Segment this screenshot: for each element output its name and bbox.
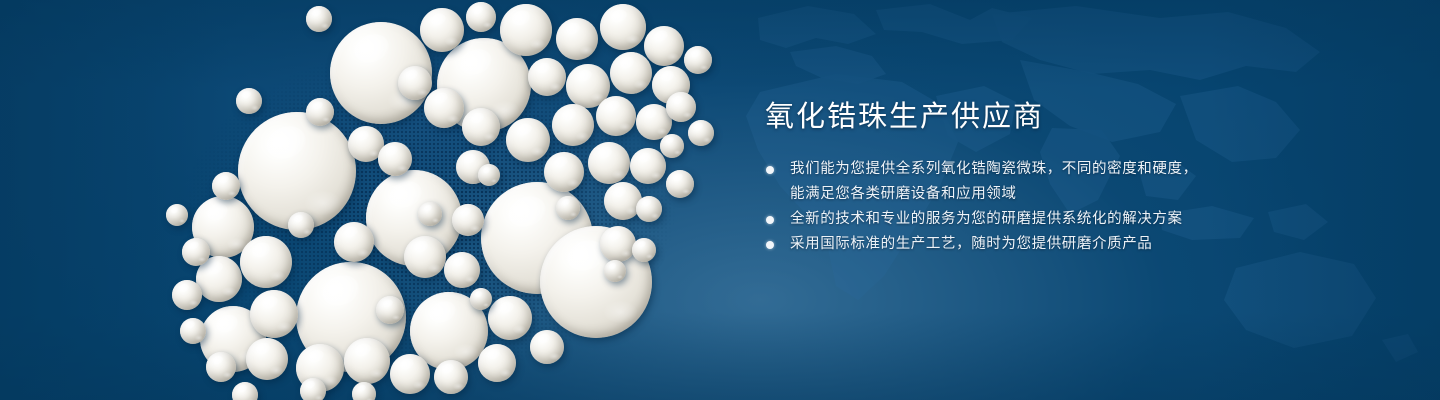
bead [544, 152, 584, 192]
banner-copy: 氧化锆珠生产供应商 我们能为您提供全系列氧化锆陶瓷微珠，不同的密度和硬度， 能满… [762, 100, 1402, 257]
list-item-line: 采用国际标准的生产工艺，随时为您提供研磨介质产品 [790, 232, 1402, 257]
bead [376, 296, 404, 324]
bead [206, 352, 236, 382]
bead [660, 134, 684, 158]
bead [462, 108, 500, 146]
list-item: 我们能为您提供全系列氧化锆陶瓷微珠，不同的密度和硬度， 能满足您各类研磨设备和应… [762, 157, 1402, 207]
bead [246, 338, 288, 380]
bead [478, 344, 516, 382]
bead [180, 318, 206, 344]
list-item: 全新的技术和专业的服务为您的研磨提供系统化的解决方案 [762, 207, 1402, 232]
feature-list: 我们能为您提供全系列氧化锆陶瓷微珠，不同的密度和硬度， 能满足您各类研磨设备和应… [762, 157, 1402, 257]
bead [466, 2, 496, 32]
list-item: 采用国际标准的生产工艺，随时为您提供研磨介质产品 [762, 232, 1402, 257]
bead [172, 280, 202, 310]
bead [300, 378, 326, 400]
bead [644, 26, 684, 66]
bead [600, 226, 636, 262]
bead [444, 252, 480, 288]
bead [240, 236, 292, 288]
bead [182, 238, 210, 266]
bead [424, 88, 464, 128]
bead [236, 88, 262, 114]
bead [588, 142, 630, 184]
bead [166, 204, 188, 226]
bead [528, 58, 566, 96]
bead [636, 196, 662, 222]
bead [306, 98, 334, 126]
bead [556, 196, 580, 220]
bead [452, 204, 484, 236]
bead [418, 202, 442, 226]
bead [610, 52, 652, 94]
bead [420, 8, 464, 52]
list-item-line: 全新的技术和专业的服务为您的研磨提供系统化的解决方案 [790, 207, 1402, 232]
bullet-dot-icon [766, 216, 774, 224]
bead [684, 46, 712, 74]
bullet-dot-icon [766, 166, 774, 174]
bead [288, 212, 314, 238]
bead [600, 4, 646, 50]
bead [488, 296, 532, 340]
bead [632, 238, 656, 262]
bead [500, 4, 552, 56]
zirconia-beads-photo [0, 0, 760, 400]
bead [470, 288, 492, 310]
bead [604, 260, 626, 282]
bead [506, 118, 550, 162]
bead [352, 382, 376, 400]
list-item-line: 能满足您各类研磨设备和应用领域 [790, 182, 1402, 207]
bead [378, 142, 412, 176]
bead [250, 290, 298, 338]
bead [334, 222, 374, 262]
bead [434, 360, 468, 394]
bead [530, 330, 564, 364]
bead [306, 6, 332, 32]
bead [212, 172, 240, 200]
bead [552, 104, 594, 146]
bead [688, 120, 714, 146]
bead [556, 18, 598, 60]
bead [404, 236, 446, 278]
bead [232, 382, 258, 400]
list-item-line: 我们能为您提供全系列氧化锆陶瓷微珠，不同的密度和硬度， [790, 157, 1402, 182]
page-title: 氧化锆珠生产供应商 [765, 100, 1402, 135]
bead [666, 170, 694, 198]
bead [630, 148, 666, 184]
bead [390, 354, 430, 394]
bead [596, 96, 636, 136]
bead [478, 164, 500, 186]
bead [666, 92, 696, 122]
hero-banner: 氧化锆珠生产供应商 我们能为您提供全系列氧化锆陶瓷微珠，不同的密度和硬度， 能满… [0, 0, 1440, 400]
bead [344, 338, 390, 384]
bullet-dot-icon [766, 241, 774, 249]
bead [398, 66, 432, 100]
